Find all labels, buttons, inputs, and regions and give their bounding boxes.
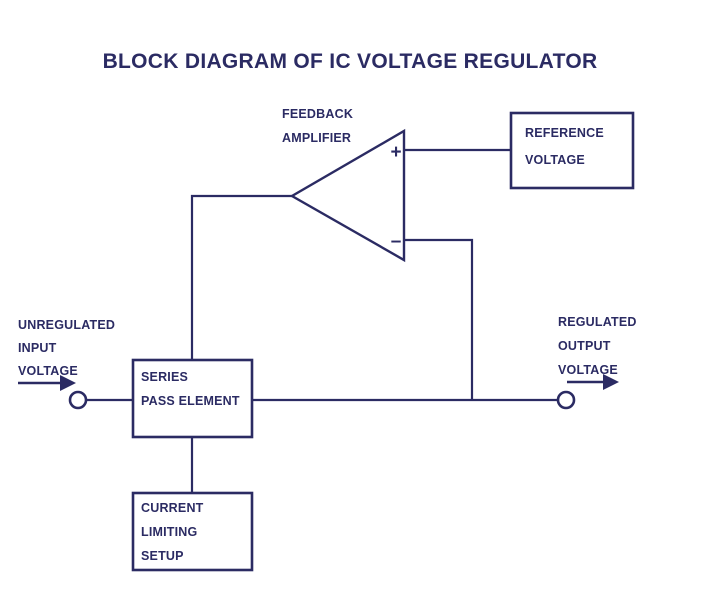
wire-amplifier-output-to-series-pass — [192, 196, 292, 360]
output-label-line2: OUTPUT — [558, 339, 611, 353]
block-diagram: BLOCK DIAGRAM OF IC VOLTAGE REGULATOR FE… — [0, 0, 701, 590]
block-current-limiting-setup-label-line3: SETUP — [141, 549, 184, 563]
input-label-line2: INPUT — [18, 341, 57, 355]
block-series-pass-element-label-line1: SERIES — [141, 370, 188, 384]
block-current-limiting-setup-label-line1: CURRENT — [141, 501, 204, 515]
output-terminal[interactable] — [558, 392, 574, 408]
feedback-amplifier-symbol[interactable] — [292, 131, 404, 260]
block-series-pass-element-label-line2: PASS ELEMENT — [141, 394, 240, 408]
block-current-limiting-setup-label-line2: LIMITING — [141, 525, 197, 539]
input-label-line1: UNREGULATED — [18, 318, 115, 332]
input-label-line3: VOLTAGE — [18, 364, 78, 378]
input-terminal[interactable] — [70, 392, 86, 408]
page-title: BLOCK DIAGRAM OF IC VOLTAGE REGULATOR — [103, 50, 598, 73]
output-label-line1: REGULATED — [558, 315, 637, 329]
wire-feedback-sense-from-output — [404, 240, 472, 400]
amplifier-plus-sign: + — [390, 142, 401, 163]
diagram-canvas: BLOCK DIAGRAM OF IC VOLTAGE REGULATOR FE… — [0, 0, 701, 590]
block-reference-voltage-label-line2: VOLTAGE — [525, 153, 585, 167]
block-reference-voltage-label-line1: REFERENCE — [525, 126, 604, 140]
amplifier-minus-sign: – — [391, 231, 402, 252]
block-reference-voltage[interactable] — [511, 113, 633, 188]
feedback-amplifier-label-line2: AMPLIFIER — [282, 131, 351, 145]
output-label-line3: VOLTAGE — [558, 363, 618, 377]
feedback-amplifier-label-line1: FEEDBACK — [282, 107, 353, 121]
